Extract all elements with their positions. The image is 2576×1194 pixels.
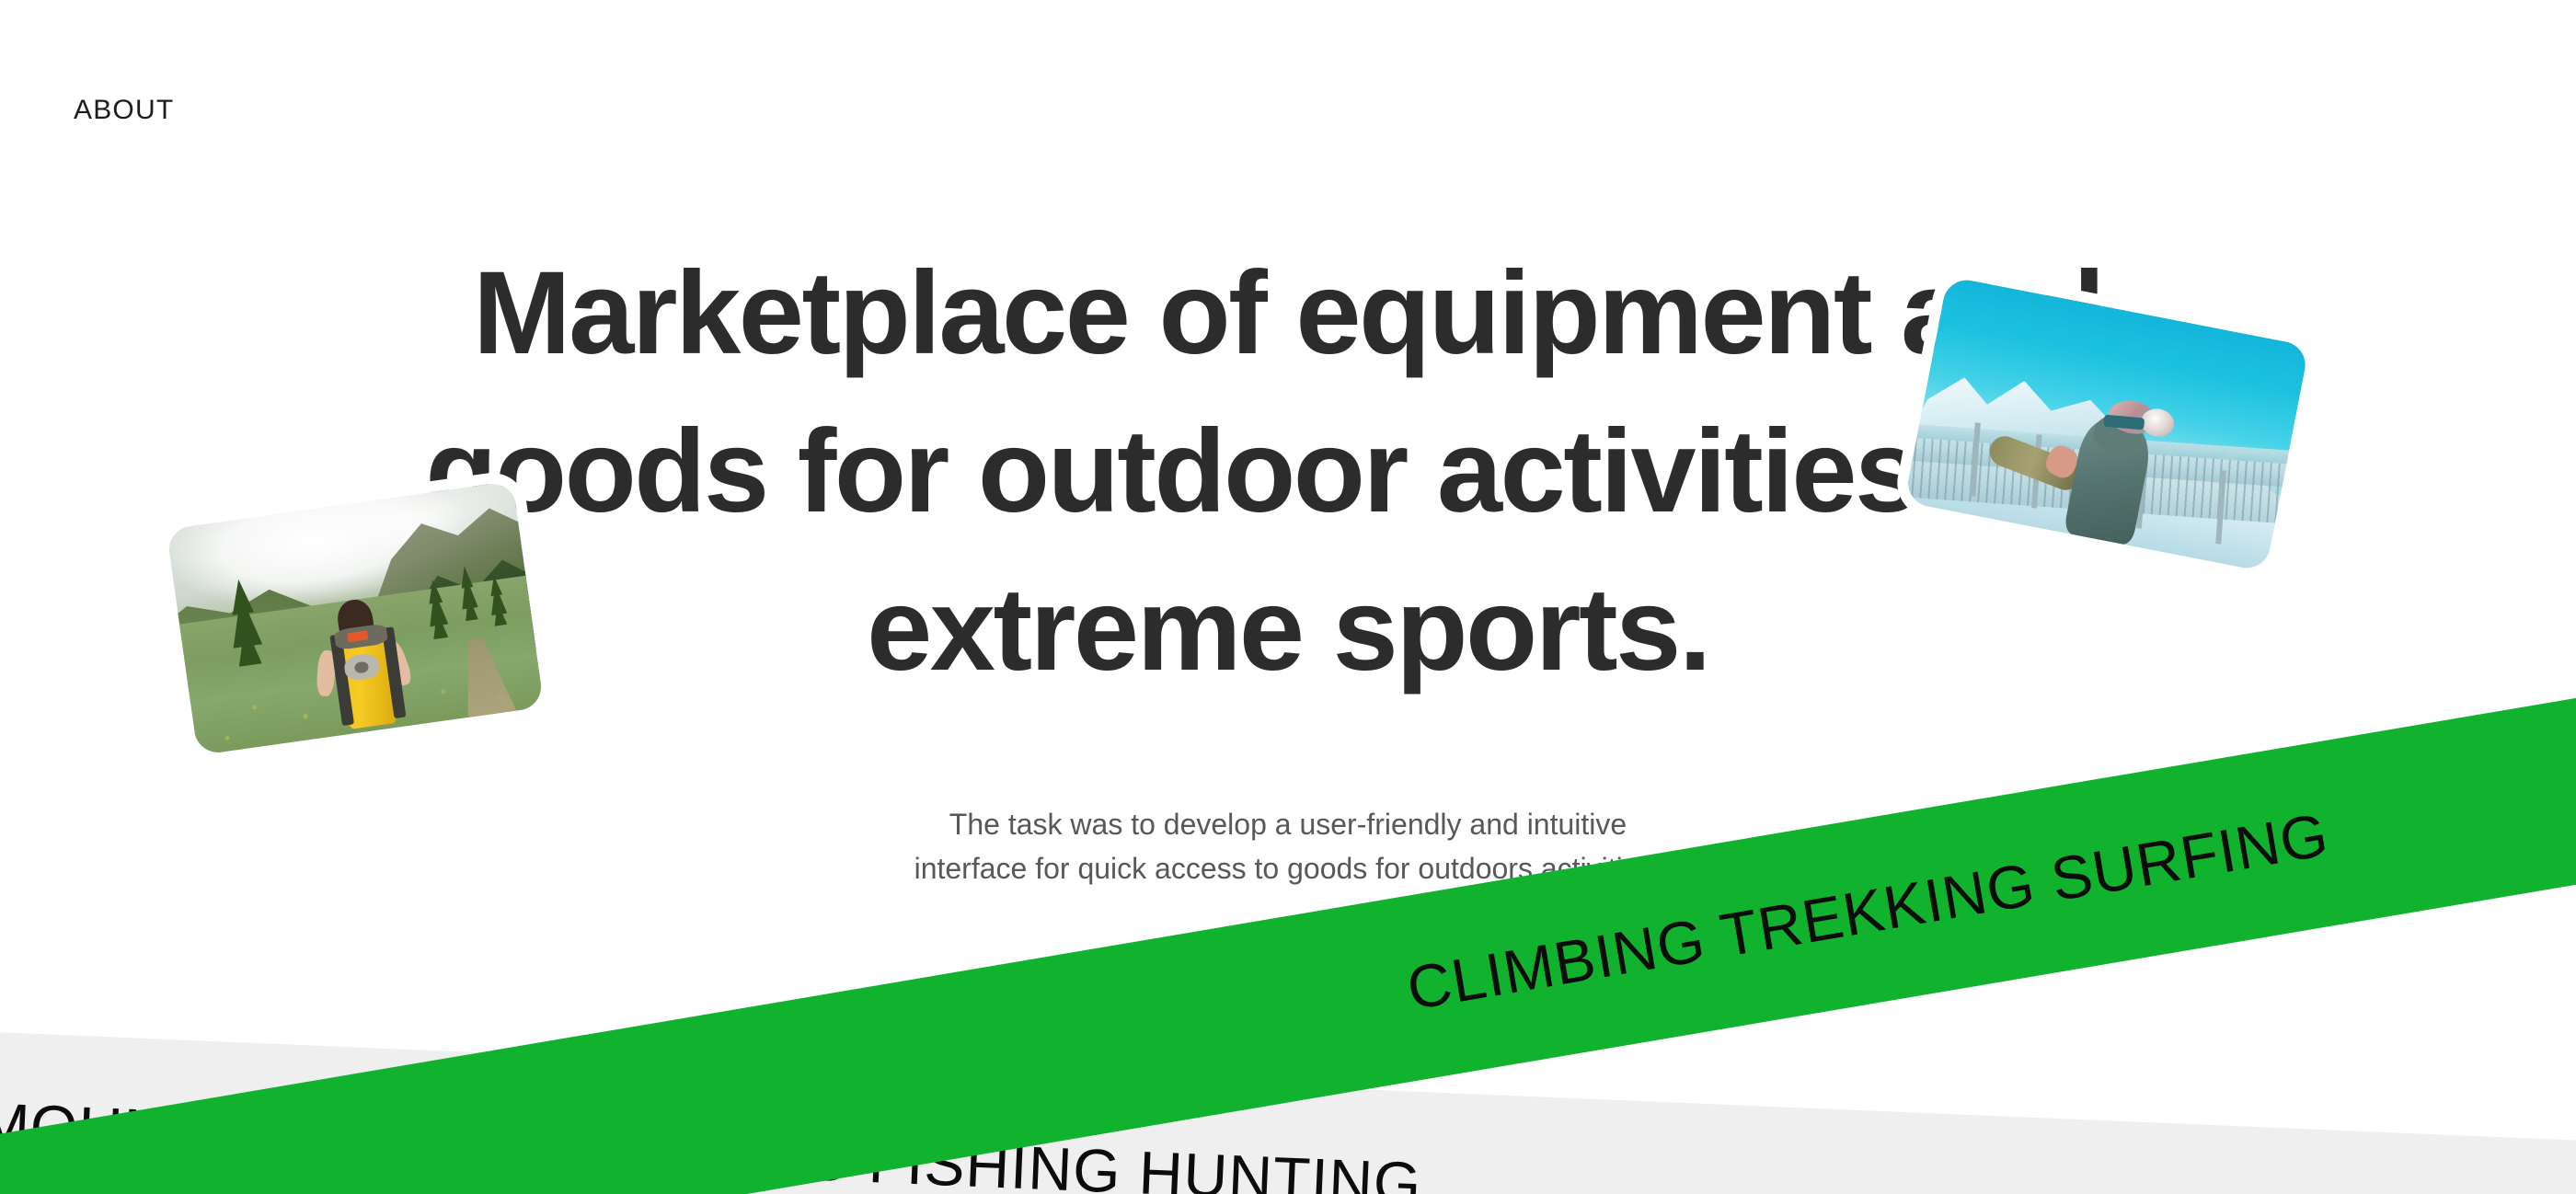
section-label-about: ABOUT (74, 95, 174, 126)
hiker-meadow-photo (167, 481, 545, 755)
about-hero-section: ABOUT Marketplace of equipment and goods… (0, 0, 2576, 1194)
